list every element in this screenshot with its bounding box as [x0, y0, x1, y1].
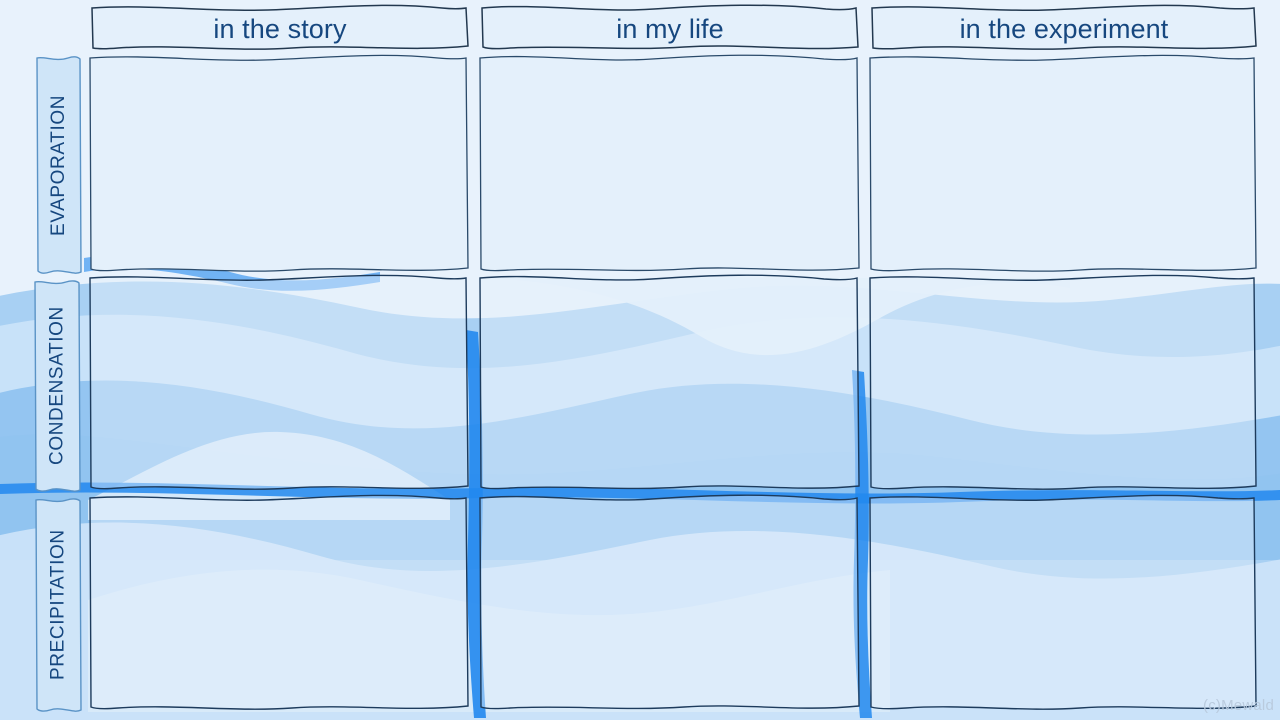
row-header-precipitation-label: PRECIPITATION: [36, 500, 81, 710]
watermark-credit: (c)Mewald: [1203, 697, 1274, 714]
cell-evaporation-experiment-text[interactable]: [872, 60, 1254, 268]
column-header-experiment-label: in the experiment: [872, 8, 1256, 50]
cell-condensation-experiment-text[interactable]: [872, 280, 1254, 486]
column-header-life-label: in my life: [482, 8, 858, 50]
cell-evaporation-life-text[interactable]: [482, 60, 857, 268]
cell-precipitation-life-text[interactable]: [482, 500, 857, 706]
cell-precipitation-story-text[interactable]: [92, 500, 466, 706]
column-header-story[interactable]: in the story: [92, 8, 468, 50]
column-header-story-label: in the story: [92, 8, 468, 50]
column-header-experiment[interactable]: in the experiment: [872, 8, 1256, 50]
column-header-life[interactable]: in my life: [482, 8, 858, 50]
worksheet-page: in the story in my life in the experimen…: [0, 0, 1280, 720]
cell-precipitation-experiment-text[interactable]: [872, 500, 1254, 706]
row-header-condensation[interactable]: CONDENSATION: [35, 282, 80, 490]
row-header-precipitation[interactable]: PRECIPITATION: [36, 500, 81, 710]
row-header-evaporation[interactable]: EVAPORATION: [37, 58, 81, 272]
row-header-condensation-label: CONDENSATION: [35, 282, 80, 490]
cell-condensation-story-text[interactable]: [92, 280, 466, 486]
cell-condensation-life-text[interactable]: [482, 280, 857, 486]
row-header-evaporation-label: EVAPORATION: [37, 58, 81, 272]
cell-evaporation-story-text[interactable]: [92, 60, 466, 268]
